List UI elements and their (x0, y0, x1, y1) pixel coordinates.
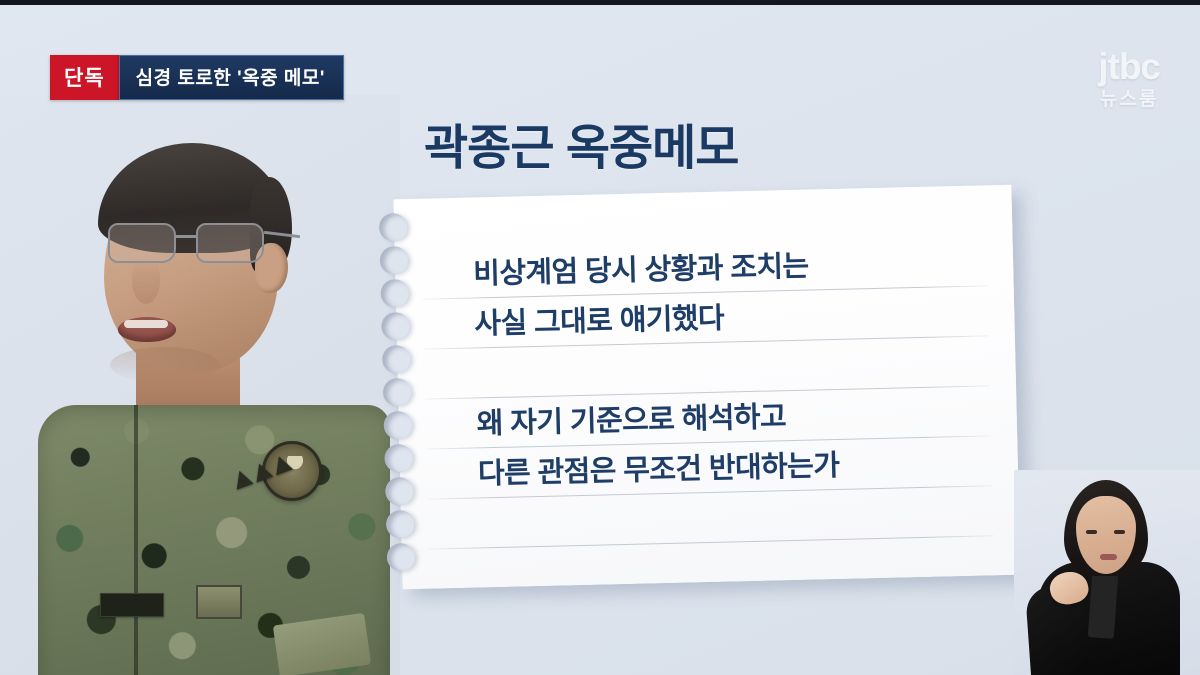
subject-chin-shadow (110, 347, 220, 383)
glasses-bridge (176, 235, 196, 238)
interpreter-eye-left (1086, 530, 1097, 534)
memo-note-card: 비상계엄 당시 상황과 조치는 사실 그대로 얘기했다 왜 자기 기준으로 해석… (393, 185, 1020, 589)
chest-badge-icon (196, 585, 242, 619)
subject-brow-right (186, 206, 232, 216)
news-banner: 단독 심경 토로한 '옥중 메모' (50, 55, 344, 100)
interpreter-eye-right (1114, 530, 1125, 534)
subject-photo: 방문 (0, 95, 400, 675)
letterbox-top-bar (0, 0, 1200, 5)
interpreter-mouth (1100, 554, 1117, 560)
program-name-label: 뉴스룸 (1098, 90, 1160, 109)
lens-right (196, 223, 264, 263)
channel-logo: jtbc 뉴스룸 (1098, 48, 1160, 109)
banner-headline-strip: 심경 토로한 '옥중 메모' (119, 55, 344, 100)
lens-left (108, 223, 176, 263)
page-title: 곽종근 옥중메모 (424, 108, 738, 178)
jtbc-logo-icon: jtbc (1098, 48, 1160, 85)
eyeglasses-icon (108, 223, 280, 265)
broadcast-frame: 방문 단독 심경 토로한 '옥중 메모' jtbc 뉴스룸 곽종근 옥중메모 (0, 0, 1200, 675)
sign-language-interpreter (1014, 470, 1200, 675)
interpreter-lapel (1088, 573, 1118, 639)
subject-mouth (118, 317, 176, 342)
exclusive-tag-badge: 단독 (50, 55, 119, 100)
uniform-nametape (100, 593, 164, 617)
memo-text-block: 비상계엄 당시 상황과 조치는 사실 그대로 얘기했다 왜 자기 기준으로 해석… (473, 237, 999, 499)
